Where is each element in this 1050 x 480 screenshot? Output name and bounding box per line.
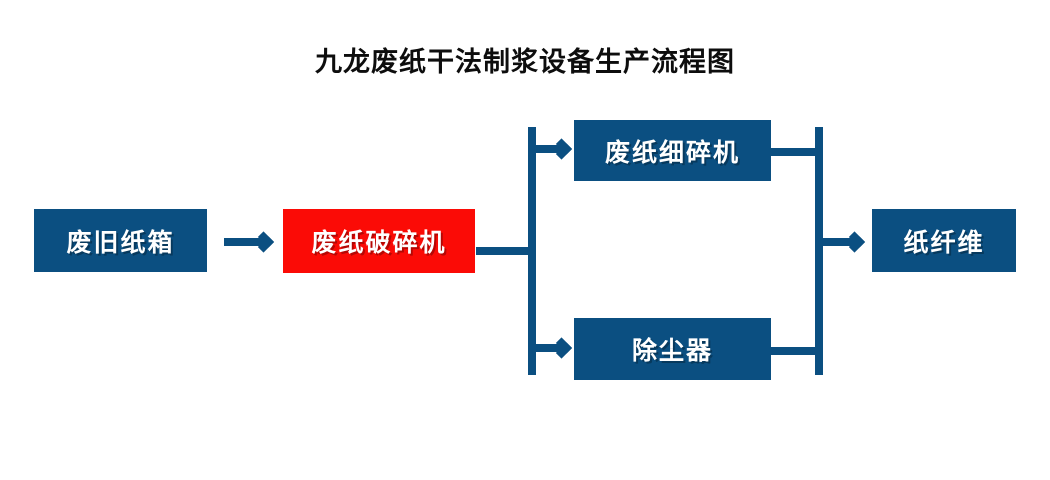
node-dust-collector[interactable]: 除尘器 (574, 318, 771, 380)
connector-crusher-to-split-bus (476, 247, 530, 255)
node-waste-paper-shredder[interactable]: 废纸细碎机 (574, 120, 771, 181)
split-bus-line (528, 127, 536, 375)
connector-shredder-to-merge-bus (769, 148, 817, 156)
page-title: 九龙废纸干法制浆设备生产流程图 (0, 40, 1050, 79)
arrow-split-to-shredder-icon (534, 145, 566, 153)
arrow-carton-to-crusher-icon (224, 238, 268, 246)
node-paper-fiber[interactable]: 纸纤维 (872, 209, 1016, 272)
arrow-split-to-dust-icon (534, 344, 566, 352)
node-waste-paper-crusher[interactable]: 废纸破碎机 (283, 209, 475, 273)
flowchart-canvas: 九龙废纸干法制浆设备生产流程图 废旧纸箱 废纸破碎机 废纸细碎机 除尘器 纸纤维 (0, 0, 1050, 480)
connector-dust-to-merge-bus (769, 347, 817, 355)
node-waste-carton[interactable]: 废旧纸箱 (34, 209, 207, 272)
arrow-merge-to-fiber-icon (821, 238, 859, 246)
merge-bus-line (815, 127, 823, 375)
